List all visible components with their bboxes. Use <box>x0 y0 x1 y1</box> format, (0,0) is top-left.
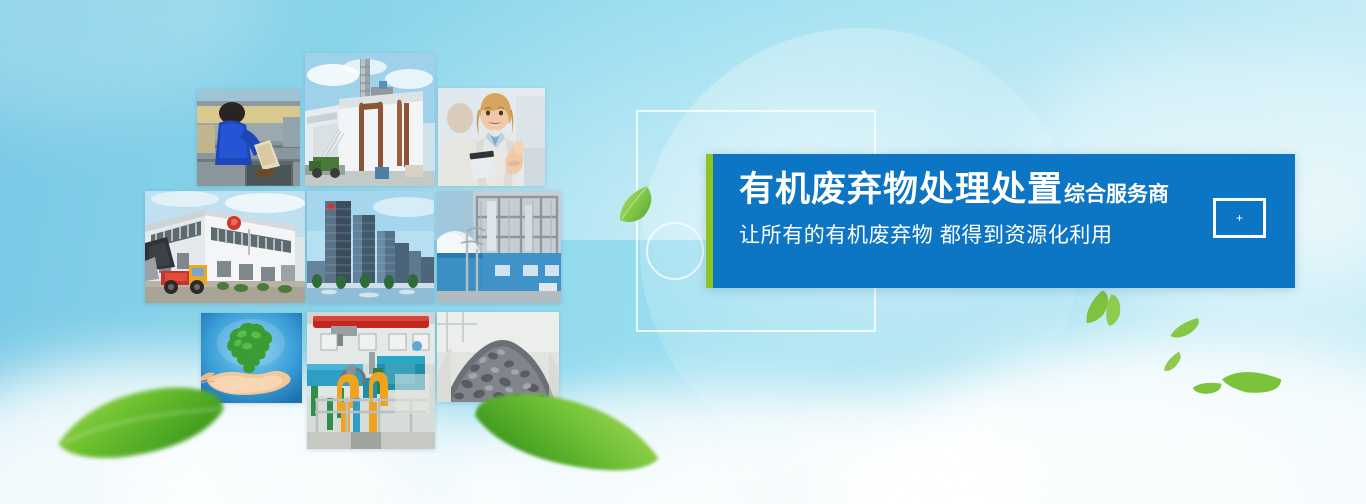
photo-industrial-processing-facility <box>437 191 561 303</box>
cloud-bottom-left-3 <box>0 414 260 504</box>
cloud-wisp-center <box>390 384 810 504</box>
cloud-bottom-right-2 <box>886 384 1306 504</box>
headline-main-text: 有机废弃物处理处置 <box>739 172 1063 207</box>
leaf-mid-icon <box>610 182 664 229</box>
cloud-bottom-right-1 <box>876 334 1366 504</box>
leaf-right-4-icon <box>1158 349 1188 374</box>
photo-plant-machinery-orange-pipes <box>307 312 435 449</box>
small-circle-outline <box>646 222 704 280</box>
photo-factory-warehouse-with-truck <box>145 191 305 303</box>
panel-headline: 有机废弃物处理处置 综合服务商 <box>739 172 1295 207</box>
leaf-right-1-icon <box>1076 286 1121 329</box>
photo-worker-pouring-material <box>197 89 300 186</box>
more-plus-button[interactable]: + <box>1213 198 1266 238</box>
leaf-right-3-icon <box>1166 316 1205 341</box>
cloud-bottom-mid-1 <box>430 384 950 504</box>
panel-body: 有机废弃物处理处置 综合服务商 让所有的有机废弃物 都得到资源化利用 + <box>713 154 1295 288</box>
leaf-right-6-icon <box>1219 355 1288 408</box>
cloud-bottom-mid-2 <box>640 404 1000 504</box>
plus-icon: + <box>1236 212 1243 224</box>
panel-subline: 让所有的有机废弃物 都得到资源化利用 <box>739 223 1295 249</box>
hero-banner: 有机废弃物处理处置 综合服务商 让所有的有机废弃物 都得到资源化利用 + <box>0 0 1366 504</box>
photo-office-towers <box>307 191 434 303</box>
photo-businesswoman-thumbs-up <box>438 88 545 186</box>
headline-suffix-text: 综合服务商 <box>1064 184 1169 205</box>
leaf-right-2-icon <box>1096 290 1130 329</box>
message-panel: 有机废弃物处理处置 综合服务商 让所有的有机废弃物 都得到资源化利用 + <box>706 154 1295 288</box>
cloud-wisp-right <box>760 364 1090 504</box>
leaf-right-5-icon <box>1191 377 1226 399</box>
photo-treatment-plant-exterior <box>305 53 435 186</box>
panel-accent-bar <box>706 154 713 288</box>
photo-hand-holding-leaf-heart <box>201 313 302 403</box>
photo-processed-sludge-pile <box>437 312 559 402</box>
